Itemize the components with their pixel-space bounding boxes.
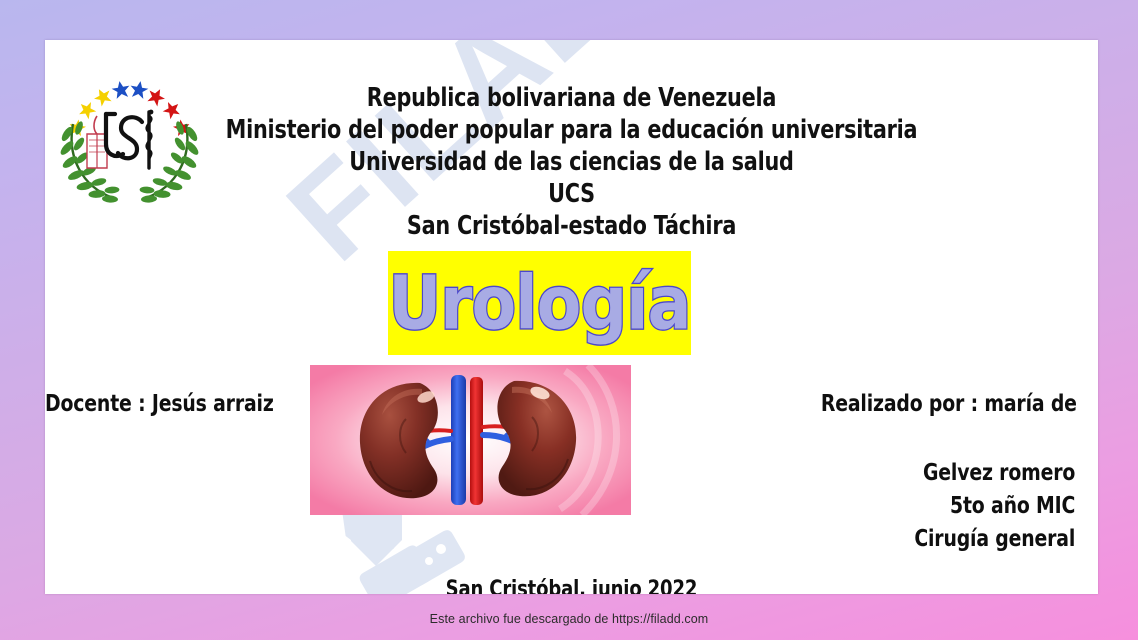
instructor-credit: Docente : Jesús arraiz <box>45 388 325 421</box>
author-credit: Realizado por : maría de Gelvez romero 5… <box>685 388 1085 556</box>
header-line-3: Universidad de las ciencias de la salud <box>150 146 992 178</box>
author-name: Gelvez romero <box>757 457 1085 490</box>
header-line-1: Republica bolivariana de Venezuela <box>150 82 992 114</box>
place-date-text: San Cristóbal, junio 2022 <box>446 573 698 594</box>
header-line-4: UCS <box>150 178 992 210</box>
header-block: Republica bolivariana de Venezuela Minis… <box>45 82 1098 242</box>
header-line-2: Ministerio del poder popular para la edu… <box>150 114 992 146</box>
header-line-5: San Cristóbal-estado Táchira <box>150 210 992 242</box>
ucs-crest-logo <box>53 52 201 217</box>
author-specialty: Cirugía general <box>757 523 1085 556</box>
kidneys-anatomy-illustration <box>310 365 631 515</box>
place-date-line: San Cristóbal, junio 2022 <box>45 573 1098 594</box>
page-root: FILADD.COM <box>0 0 1138 640</box>
author-year: 5to año MIC <box>757 490 1085 523</box>
author-label: Realizado por : maría de <box>757 388 1085 421</box>
slide-canvas: FILADD.COM <box>45 40 1098 594</box>
author-spacer <box>685 421 1085 457</box>
download-footer-note: Este archivo fue descargado de https://f… <box>0 612 1138 626</box>
title-banner: Urología <box>388 251 691 355</box>
presentation-title: Urología <box>388 266 690 340</box>
instructor-label: Docente : Jesús arraiz <box>45 388 275 421</box>
